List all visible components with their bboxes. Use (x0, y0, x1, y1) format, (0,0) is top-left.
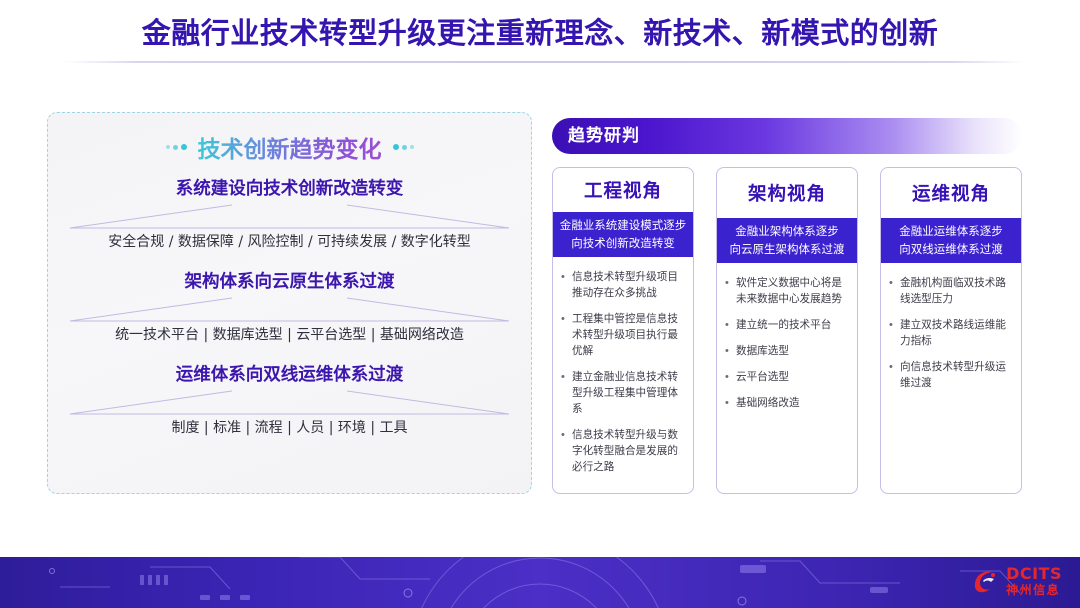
list-item-label: 建立统一的技术平台 (736, 317, 831, 333)
list-item-label: 建立双技术路线运维能力指标 (900, 317, 1011, 349)
card-title: 运维视角 (881, 168, 1021, 218)
company-logo: DCITS 神州信息 (971, 566, 1062, 596)
list-item-label: 云平台选型 (736, 369, 789, 385)
card-subtitle: 金融业系统建设模式逐步 向技术创新改造转变 (553, 212, 693, 257)
decorative-dots-right-icon (393, 144, 414, 150)
list-item: •建立金融业信息技术转型升级工程集中管理体系 (561, 369, 683, 417)
list-item: •云平台选型 (725, 369, 847, 385)
card-subtitle-line: 向双线运维体系过渡 (884, 240, 1018, 258)
list-item: •金融机构面临双技术路线选型压力 (889, 275, 1011, 307)
trend-change-heading: 技术创新趋势变化 (62, 131, 517, 163)
bullet-dot-icon: • (561, 369, 567, 417)
page-title-container: 金融行业技术转型升级更注重新理念、新技术、新模式的创新 (0, 14, 1080, 52)
trend-block: 架构体系向云原生体系过渡 统一技术平台 | 数据库选型 | 云平台选型 | 基础… (62, 270, 517, 346)
list-item: •软件定义数据中心将是未来数据中心发展趋势 (725, 275, 847, 307)
bullet-dot-icon: • (889, 359, 895, 391)
list-item-label: 工程集中管控是信息技术转型升级项目执行最优解 (572, 311, 683, 359)
dcits-swirl-icon (971, 566, 1001, 596)
trend-change-panel: 技术创新趋势变化 系统建设向技术创新改造转变 安全合规 / 数据保障 / 风险控… (47, 112, 532, 494)
trend-change-heading-label: 技术创新趋势变化 (198, 130, 382, 164)
list-item-label: 信息技术转型升级项目推动存在众多挑战 (572, 269, 683, 301)
list-item: •信息技术转型升级项目推动存在众多挑战 (561, 269, 683, 301)
card-bullet-list: •信息技术转型升级项目推动存在众多挑战 •工程集中管控是信息技术转型升级项目执行… (553, 257, 693, 493)
page-title: 金融行业技术转型升级更注重新理念、新技术、新模式的创新 (0, 14, 1080, 52)
footer-band (0, 557, 1080, 608)
slide-root: 金融行业技术转型升级更注重新理念、新技术、新模式的创新 技术创新趋势变化 系统建… (0, 0, 1080, 608)
card-title: 工程视角 (553, 168, 693, 212)
card-bullet-list: •金融机构面临双技术路线选型压力 •建立双技术路线运维能力指标 •向信息技术转型… (881, 263, 1021, 493)
list-item: •基础网络改造 (725, 395, 847, 411)
bullet-dot-icon: • (889, 317, 895, 349)
trend-judgment-banner-label: 趋势研判 (568, 125, 640, 147)
bullet-dot-icon: • (561, 311, 567, 359)
bullet-dot-icon: • (725, 369, 731, 385)
card-bullet-list: •软件定义数据中心将是未来数据中心发展趋势 •建立统一的技术平台 •数据库选型 … (717, 263, 857, 493)
title-divider (64, 61, 1026, 63)
trend-block: 运维体系向双线运维体系过渡 制度 | 标准 | 流程 | 人员 | 环境 | 工… (62, 363, 517, 439)
logo-text: DCITS 神州信息 (1006, 566, 1062, 596)
list-item: •信息技术转型升级与数字化转型融合是发展的必行之路 (561, 427, 683, 475)
card-subtitle-line: 金融业架构体系逐步 (720, 222, 854, 240)
card-subtitle: 金融业架构体系逐步 向云原生架构体系过渡 (717, 218, 857, 263)
bullet-dot-icon: • (725, 317, 731, 333)
decorative-dots-left-icon (166, 144, 187, 150)
bullet-dot-icon: • (889, 275, 895, 307)
bullet-dot-icon: • (725, 275, 731, 307)
card-subtitle-line: 向云原生架构体系过渡 (720, 240, 854, 258)
logo-cn-label: 神州信息 (1006, 584, 1062, 596)
list-item: •建立双技术路线运维能力指标 (889, 317, 1011, 349)
bullet-dot-icon: • (561, 269, 567, 301)
viewpoint-cards: 工程视角 金融业系统建设模式逐步 向技术创新改造转变 •信息技术转型升级项目推动… (552, 167, 1024, 494)
list-item: •建立统一的技术平台 (725, 317, 847, 333)
viewpoint-card-operations[interactable]: 运维视角 金融业运维体系逐步 向双线运维体系过渡 •金融机构面临双技术路线选型压… (880, 167, 1022, 494)
viewpoint-card-architecture[interactable]: 架构视角 金融业架构体系逐步 向云原生架构体系过渡 •软件定义数据中心将是未来数… (716, 167, 858, 494)
logo-en-label: DCITS (1006, 566, 1062, 582)
list-item: •数据库选型 (725, 343, 847, 359)
viewpoint-card-engineering[interactable]: 工程视角 金融业系统建设模式逐步 向技术创新改造转变 •信息技术转型升级项目推动… (552, 167, 694, 494)
trend-block-items: 制度 | 标准 | 流程 | 人员 | 环境 | 工具 (62, 417, 517, 439)
footer-tech-pattern-icon (0, 557, 1080, 608)
trend-block-items: 统一技术平台 | 数据库选型 | 云平台选型 | 基础网络改造 (62, 324, 517, 346)
card-subtitle-line: 金融业运维体系逐步 (884, 222, 1018, 240)
list-item-label: 建立金融业信息技术转型升级工程集中管理体系 (572, 369, 683, 417)
trend-block-title: 系统建设向技术创新改造转变 (62, 177, 517, 201)
list-item: •向信息技术转型升级运维过渡 (889, 359, 1011, 391)
list-item-label: 金融机构面临双技术路线选型压力 (900, 275, 1011, 307)
funnel-connector-icon (62, 204, 517, 230)
trend-block: 系统建设向技术创新改造转变 安全合规 / 数据保障 / 风险控制 / 可持续发展… (62, 177, 517, 253)
list-item-label: 软件定义数据中心将是未来数据中心发展趋势 (736, 275, 847, 307)
card-subtitle-line: 向技术创新改造转变 (556, 234, 690, 252)
trend-block-items: 安全合规 / 数据保障 / 风险控制 / 可持续发展 / 数字化转型 (62, 231, 517, 253)
trend-block-title: 架构体系向云原生体系过渡 (62, 270, 517, 294)
card-subtitle: 金融业运维体系逐步 向双线运维体系过渡 (881, 218, 1021, 263)
bullet-dot-icon: • (561, 427, 567, 475)
bullet-dot-icon: • (725, 343, 731, 359)
bullet-dot-icon: • (725, 395, 731, 411)
card-subtitle-line: 金融业系统建设模式逐步 (556, 216, 690, 234)
list-item-label: 向信息技术转型升级运维过渡 (900, 359, 1011, 391)
trend-block-title: 运维体系向双线运维体系过渡 (62, 363, 517, 387)
list-item: •工程集中管控是信息技术转型升级项目执行最优解 (561, 311, 683, 359)
list-item-label: 数据库选型 (736, 343, 789, 359)
card-title: 架构视角 (717, 168, 857, 218)
funnel-connector-icon (62, 297, 517, 323)
list-item-label: 信息技术转型升级与数字化转型融合是发展的必行之路 (572, 427, 683, 475)
list-item-label: 基础网络改造 (736, 395, 800, 411)
funnel-connector-icon (62, 390, 517, 416)
